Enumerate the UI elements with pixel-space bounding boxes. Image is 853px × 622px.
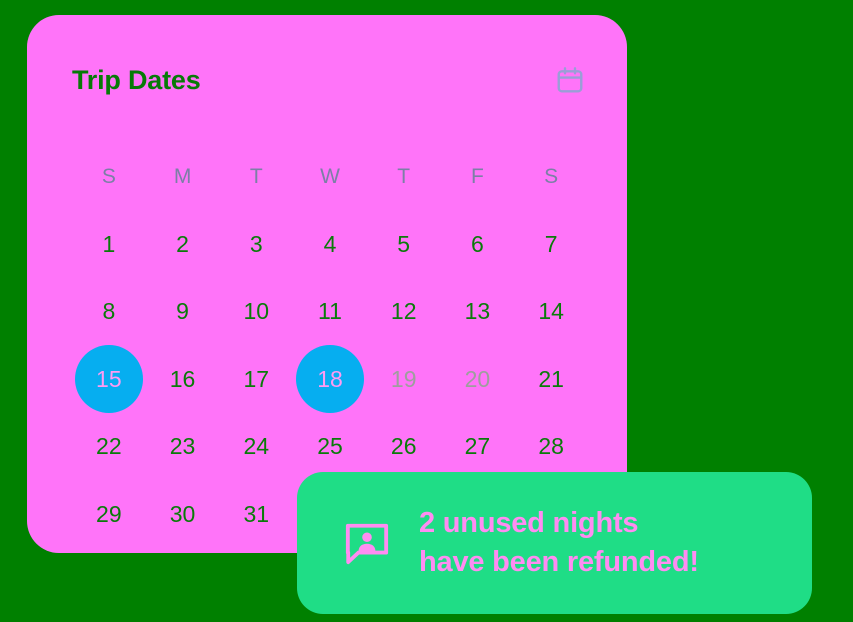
calendar-day-14[interactable]: 14	[517, 278, 585, 346]
calendar-day-3[interactable]: 3	[222, 210, 290, 278]
calendar-day-label: 24	[243, 435, 269, 458]
calendar-day-label: 7	[545, 233, 558, 256]
calendar-day-20: 20	[443, 345, 511, 413]
calendar-day-label: 29	[96, 503, 122, 526]
weekday-header-sun: S	[102, 166, 116, 187]
calendar-day-16[interactable]: 16	[149, 345, 217, 413]
calendar-day-label: 14	[538, 300, 564, 323]
calendar-day-25[interactable]: 25	[296, 413, 364, 481]
weekday-header-thu: T	[397, 166, 410, 187]
calendar-day-label: 3	[250, 233, 263, 256]
calendar-day-label: 10	[243, 300, 269, 323]
calendar-day-label: 13	[465, 300, 491, 323]
calendar-day-6[interactable]: 6	[443, 210, 511, 278]
calendar-day-label: 16	[170, 368, 196, 391]
calendar-day-label: 11	[318, 300, 342, 323]
calendar-day-4[interactable]: 4	[296, 210, 364, 278]
calendar-day-28[interactable]: 28	[517, 413, 585, 481]
calendar-day-label: 12	[391, 300, 417, 323]
calendar-day-label: 5	[397, 233, 410, 256]
calendar-day-7[interactable]: 7	[517, 210, 585, 278]
calendar-day-label: 30	[170, 503, 196, 526]
calendar-day-9[interactable]: 9	[149, 278, 217, 346]
calendar-day-label: 22	[96, 435, 122, 458]
calendar-day-8[interactable]: 8	[75, 278, 143, 346]
calendar-day-29[interactable]: 29	[75, 480, 143, 548]
calendar-day-label: 25	[317, 435, 343, 458]
calendar-day-label: 1	[102, 233, 115, 256]
calendar-day-label: 8	[102, 300, 115, 323]
calendar-day-21[interactable]: 21	[517, 345, 585, 413]
calendar-day-label: 31	[243, 503, 269, 526]
calendar-day-2[interactable]: 2	[149, 210, 217, 278]
weekday-header-tue: T	[250, 166, 263, 187]
calendar-day-label: 20	[465, 368, 491, 391]
calendar-day-24[interactable]: 24	[222, 413, 290, 481]
calendar-day-label: 26	[391, 435, 417, 458]
calendar-day-26[interactable]: 26	[370, 413, 438, 481]
refund-toast[interactable]: 2 unused nights have been refunded!	[297, 472, 812, 614]
calendar-day-label: 18	[317, 368, 343, 391]
calendar-day-label: 21	[538, 368, 564, 391]
calendar-day-10[interactable]: 10	[222, 278, 290, 346]
calendar-day-label: 23	[170, 435, 196, 458]
calendar-day-label: 27	[465, 435, 491, 458]
calendar-day-12[interactable]: 12	[370, 278, 438, 346]
calendar-day-23[interactable]: 23	[149, 413, 217, 481]
calendar-day-label: 4	[324, 233, 337, 256]
weekday-header-mon: M	[174, 166, 192, 187]
calendar-day-15[interactable]: 15	[75, 345, 143, 413]
calendar-day-label: 2	[176, 233, 189, 256]
calendar-day-label: 9	[176, 300, 189, 323]
weekday-header-fri: F	[471, 166, 484, 187]
calendar-day-18[interactable]: 18	[296, 345, 364, 413]
calendar-day-11[interactable]: 11	[296, 278, 364, 346]
message-user-icon	[339, 517, 395, 569]
calendar-day-22[interactable]: 22	[75, 413, 143, 481]
toast-line-1: 2 unused nights	[419, 504, 699, 543]
calendar-day-13[interactable]: 13	[443, 278, 511, 346]
weekday-header-sat: S	[544, 166, 558, 187]
calendar-day-label: 6	[471, 233, 484, 256]
calendar-day-label: 15	[96, 368, 122, 391]
calendar-day-label: 17	[243, 368, 269, 391]
calendar-day-17[interactable]: 17	[222, 345, 290, 413]
calendar-day-30[interactable]: 30	[149, 480, 217, 548]
toast-message: 2 unused nights have been refunded!	[419, 504, 699, 582]
calendar-day-label: 28	[538, 435, 564, 458]
weekday-header-wed: W	[320, 166, 340, 187]
calendar-day-1[interactable]: 1	[75, 210, 143, 278]
calendar-day-5[interactable]: 5	[370, 210, 438, 278]
calendar-day-label: 19	[391, 368, 417, 391]
calendar-icon[interactable]	[553, 63, 587, 97]
calendar-day-27[interactable]: 27	[443, 413, 511, 481]
card-header: Trip Dates	[72, 57, 587, 103]
calendar-day-19: 19	[370, 345, 438, 413]
calendar-day-31[interactable]: 31	[222, 480, 290, 548]
toast-line-2: have been refunded!	[419, 543, 699, 582]
page-title: Trip Dates	[72, 67, 201, 94]
